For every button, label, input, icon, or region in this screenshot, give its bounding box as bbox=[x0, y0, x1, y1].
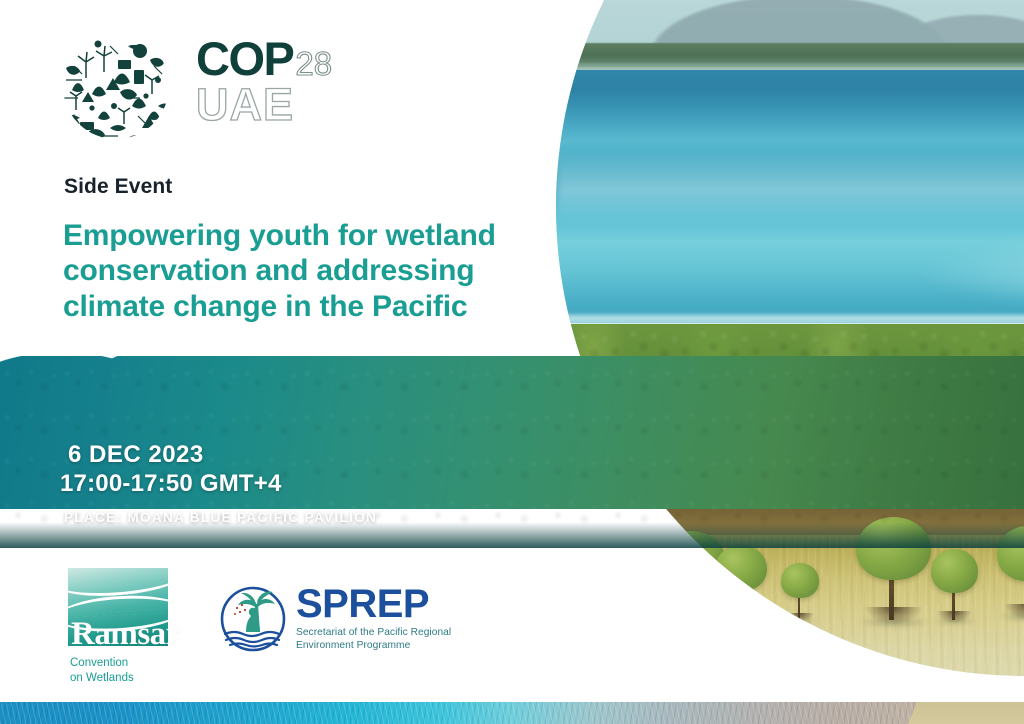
cop28-wordmark: COP 28 UAE bbox=[196, 37, 332, 127]
ramsar-subtitle-line1: Convention bbox=[70, 656, 172, 671]
ramsar-subtitle: Convention on Wetlands bbox=[70, 656, 172, 685]
event-details: 6 DEC 2023 17:00-17:50 GMT+4 PLACE: MOAN… bbox=[68, 440, 377, 525]
shoreline-strip-texture bbox=[0, 702, 1024, 724]
photo-water-highlight bbox=[556, 151, 1024, 226]
mangrove-lagoon-photo bbox=[556, 0, 1024, 676]
photo-water-highlight bbox=[912, 226, 1024, 320]
photo-mangrove-tree bbox=[781, 563, 819, 619]
shoreline-sand-wedge bbox=[904, 702, 1024, 724]
cop28-climate-collage-icon bbox=[62, 32, 170, 140]
sprep-tagline: Secretariat of the Pacific Regional Envi… bbox=[296, 626, 451, 653]
cop28-logo: COP 28 UAE bbox=[62, 32, 332, 140]
event-date: 6 DEC 2023 bbox=[68, 440, 377, 469]
photo-mangrove-tree bbox=[931, 549, 978, 619]
cop-text: COP bbox=[196, 37, 293, 80]
sprep-island-palm-icon bbox=[216, 582, 290, 656]
sprep-text-block: SPREP Secretariat of the Pacific Regiona… bbox=[296, 586, 451, 653]
photo-mangrove-tree bbox=[715, 545, 767, 620]
event-kicker: Side Event bbox=[64, 175, 172, 199]
event-time: 17:00-17:50 GMT+4 bbox=[60, 469, 377, 498]
ramsar-subtitle-line2: on Wetlands bbox=[70, 671, 172, 686]
cop-country: UAE bbox=[196, 82, 332, 127]
event-title: Empowering youth for wetland conservatio… bbox=[63, 218, 533, 324]
event-place: PLACE: MOANA BLUE PACIFIC PAVILION bbox=[64, 510, 377, 525]
partner-logos: Ramsar Convention on Wetlands bbox=[0, 566, 620, 691]
sprep-logo[interactable]: SPREP Secretariat of the Pacific Regiona… bbox=[216, 582, 451, 656]
event-poster: 6 DEC 2023 17:00-17:50 GMT+4 PLACE: MOAN… bbox=[0, 0, 1024, 724]
ramsar-wordmark: Ramsar bbox=[71, 616, 180, 653]
sprep-wordmark: SPREP bbox=[296, 586, 451, 622]
ramsar-logo[interactable]: Ramsar Convention on Wetlands bbox=[68, 568, 172, 685]
sprep-tagline-line1: Secretariat of the Pacific Regional bbox=[296, 626, 451, 639]
shoreline-strip bbox=[0, 702, 1024, 724]
sprep-tagline-line2: Environment Programme bbox=[296, 639, 451, 652]
band-bottom-shade bbox=[0, 522, 1024, 548]
cop-number: 28 bbox=[295, 49, 332, 79]
